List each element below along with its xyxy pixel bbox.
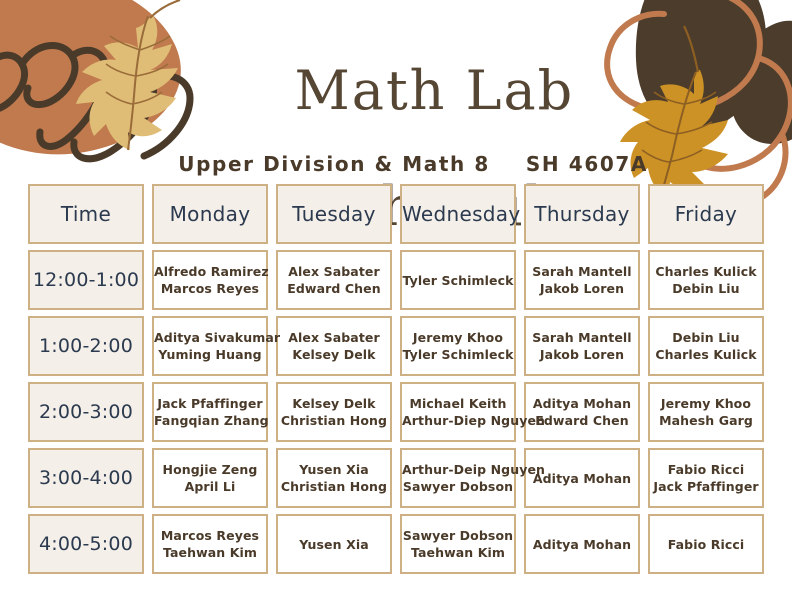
subtitle-program: Upper Division & Math 8	[178, 152, 490, 176]
time-slot-label: 4:00-5:00	[28, 514, 144, 574]
tutor-name: Charles Kulick	[650, 346, 762, 363]
tutor-name: Edward Chen	[526, 412, 638, 429]
schedule-cell[interactable]: Hongjie ZengApril Li	[152, 448, 268, 508]
schedule-cell[interactable]: Aditya Mohan	[524, 448, 640, 508]
tutor-name: Sawyer Dobson	[402, 527, 514, 544]
schedule-cell[interactable]: Alfredo RamirezMarcos Reyes	[152, 250, 268, 310]
tutor-name: Aditya Mohan	[526, 470, 638, 487]
tutor-name: Taehwan Kim	[154, 544, 266, 561]
schedule-cell[interactable]: Yusen XiaChristian Hong	[276, 448, 392, 508]
tutor-name: Charles Kulick	[650, 263, 762, 280]
column-header-thursday: Thursday	[524, 184, 640, 244]
schedule-cell[interactable]: Sarah MantellJakob Loren	[524, 316, 640, 376]
time-slot-label: 12:00-1:00	[28, 250, 144, 310]
tutor-name: Yusen Xia	[278, 461, 390, 478]
schedule-cell[interactable]: Fabio RicciJack Pfaffinger	[648, 448, 764, 508]
table-row: 2:00-3:00Jack PfaffingerFangqian ZhangKe…	[28, 382, 764, 442]
title-line-1: Math Lab	[294, 59, 574, 122]
tutor-name: Jack Pfaffinger	[650, 478, 762, 495]
tutor-name: Arthur-Diep Nguyen	[402, 412, 514, 429]
tutor-name: Marcos Reyes	[154, 280, 266, 297]
schedule-cell[interactable]: Aditya MohanEdward Chen	[524, 382, 640, 442]
time-slot-label: 3:00-4:00	[28, 448, 144, 508]
tutor-name: Jakob Loren	[526, 280, 638, 297]
schedule-cell[interactable]: Alex SabaterEdward Chen	[276, 250, 392, 310]
schedule-cell[interactable]: Arthur-Deip NguyenSawyer Dobson	[400, 448, 516, 508]
tutor-name: Hongjie Zeng	[154, 461, 266, 478]
tutor-name: Tyler Schimleck	[402, 272, 514, 289]
tutor-name: Debin Liu	[650, 329, 762, 346]
subtitle-room: SH 4607A	[490, 152, 648, 176]
tutor-name: Arthur-Deip Nguyen	[402, 461, 514, 478]
schedule-cell[interactable]: Sawyer DobsonTaehwan Kim	[400, 514, 516, 574]
tutor-name: Sarah Mantell	[526, 329, 638, 346]
schedule-cell[interactable]: Aditya SivakumarYuming Huang	[152, 316, 268, 376]
tutor-name: Fangqian Zhang	[154, 412, 266, 429]
schedule-cell[interactable]: Tyler Schimleck	[400, 250, 516, 310]
schedule-table-head: TimeMondayTuesdayWednesdayThursdayFriday	[28, 184, 764, 244]
schedule-cell[interactable]: Kelsey DelkChristian Hong	[276, 382, 392, 442]
table-row: 12:00-1:00Alfredo RamirezMarcos ReyesAle…	[28, 250, 764, 310]
tutor-name: Fabio Ricci	[650, 461, 762, 478]
tutor-name: Christian Hong	[278, 478, 390, 495]
tutor-name: Jeremy Khoo	[650, 395, 762, 412]
table-row: 3:00-4:00Hongjie ZengApril LiYusen XiaCh…	[28, 448, 764, 508]
tutor-name: Yuming Huang	[154, 346, 266, 363]
table-row: 1:00-2:00Aditya SivakumarYuming HuangAle…	[28, 316, 764, 376]
tutor-name: Marcos Reyes	[154, 527, 266, 544]
column-header-monday: Monday	[152, 184, 268, 244]
tutor-name: Michael Keith	[402, 395, 514, 412]
time-slot-label: 2:00-3:00	[28, 382, 144, 442]
schedule-cell[interactable]: Jeremy KhooTyler Schimleck	[400, 316, 516, 376]
tutor-name: Alex Sabater	[278, 329, 390, 346]
schedule-cell[interactable]: Alex SabaterKelsey Delk	[276, 316, 392, 376]
tutor-name: April Li	[154, 478, 266, 495]
schedule-cell[interactable]: Marcos ReyesTaehwan Kim	[152, 514, 268, 574]
tutor-name: Fabio Ricci	[650, 536, 762, 553]
schedule-cell[interactable]: Aditya Mohan	[524, 514, 640, 574]
tutor-name: Sarah Mantell	[526, 263, 638, 280]
tutor-name: Jeremy Khoo	[402, 329, 514, 346]
tutor-name: Alex Sabater	[278, 263, 390, 280]
time-slot-label: 1:00-2:00	[28, 316, 144, 376]
column-header-time: Time	[28, 184, 144, 244]
tutor-name: Kelsey Delk	[278, 395, 390, 412]
tutor-name: Jakob Loren	[526, 346, 638, 363]
schedule-table-body: 12:00-1:00Alfredo RamirezMarcos ReyesAle…	[28, 250, 764, 574]
tutor-name: Aditya Mohan	[526, 395, 638, 412]
schedule-table: TimeMondayTuesdayWednesdayThursdayFriday…	[20, 178, 772, 580]
tutor-name: Tyler Schimleck	[402, 346, 514, 363]
schedule-cell[interactable]: Jack PfaffingerFangqian Zhang	[152, 382, 268, 442]
schedule-cell[interactable]: Jeremy KhooMahesh Garg	[648, 382, 764, 442]
tutor-name: Jack Pfaffinger	[154, 395, 266, 412]
schedule-cell[interactable]: Charles KulickDebin Liu	[648, 250, 764, 310]
table-header-row: TimeMondayTuesdayWednesdayThursdayFriday	[28, 184, 764, 244]
tutor-name: Christian Hong	[278, 412, 390, 429]
tutor-name: Yusen Xia	[278, 536, 390, 553]
column-header-tuesday: Tuesday	[276, 184, 392, 244]
table-row: 4:00-5:00Marcos ReyesTaehwan KimYusen Xi…	[28, 514, 764, 574]
schedule-cell[interactable]: Sarah MantellJakob Loren	[524, 250, 640, 310]
column-header-wednesday: Wednesday	[400, 184, 516, 244]
page-header: Math Lab Schedule Upper Division & Math …	[0, 0, 792, 170]
schedule-cell[interactable]: Debin LiuCharles Kulick	[648, 316, 764, 376]
schedule-cell[interactable]: Michael KeithArthur-Diep Nguyen	[400, 382, 516, 442]
tutor-name: Debin Liu	[650, 280, 762, 297]
tutor-name: Taehwan Kim	[402, 544, 514, 561]
schedule-cell[interactable]: Yusen Xia	[276, 514, 392, 574]
column-header-friday: Friday	[648, 184, 764, 244]
tutor-name: Aditya Mohan	[526, 536, 638, 553]
tutor-name: Mahesh Garg	[650, 412, 762, 429]
schedule-cell[interactable]: Fabio Ricci	[648, 514, 764, 574]
tutor-name: Edward Chen	[278, 280, 390, 297]
tutor-name: Kelsey Delk	[278, 346, 390, 363]
tutor-name: Alfredo Ramirez	[154, 263, 266, 280]
tutor-name: Sawyer Dobson	[402, 478, 514, 495]
tutor-name: Aditya Sivakumar	[154, 329, 266, 346]
